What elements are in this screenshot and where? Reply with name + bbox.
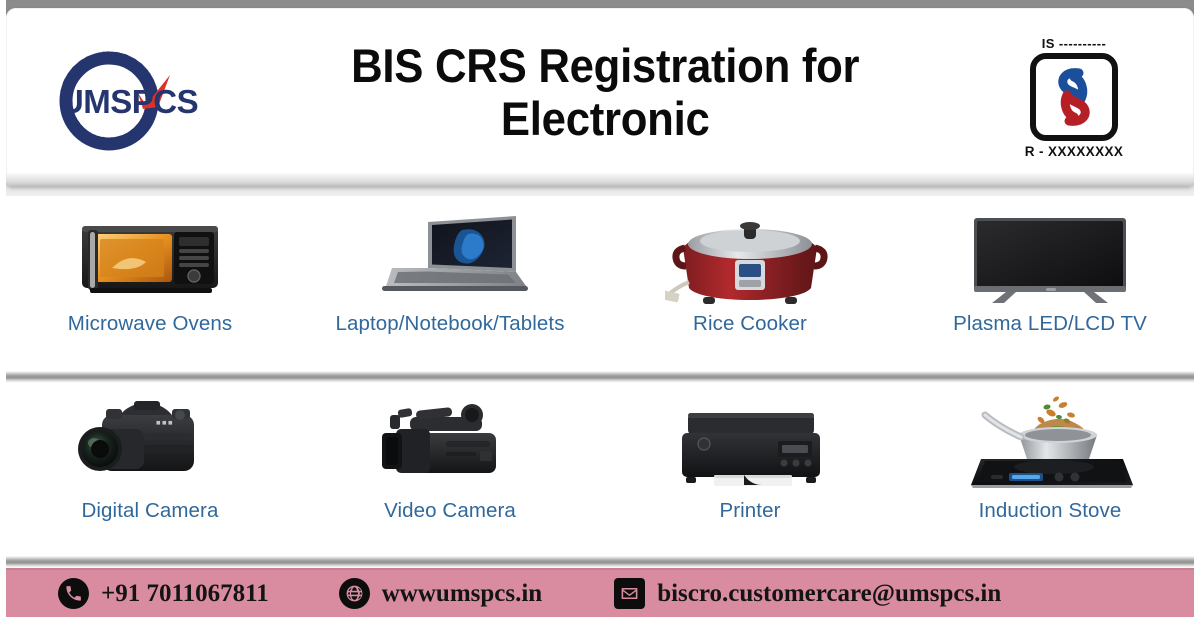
rice-cooker-icon [665, 202, 835, 306]
globe-icon [339, 578, 370, 609]
product-card-induction-stove[interactable]: Induction Stove [900, 383, 1200, 557]
umspcs-logo-mark: LEADER IN PRODUCT COMPLIANCE GLOBALLY UM… [42, 39, 220, 155]
product-card-digital-camera[interactable]: ■■■ Digital Camera [0, 383, 300, 557]
product-label: Rice Cooker [693, 312, 807, 336]
page-title: BIS CRS Registration for Electronic [351, 40, 859, 145]
contact-phone[interactable]: +91 7011067811 [58, 578, 269, 609]
page-title-line1: BIS CRS Registration for [351, 40, 859, 93]
bis-is-number: IS ---------- [1016, 36, 1132, 51]
svg-text:UMSPCS: UMSPCS [60, 83, 198, 120]
product-card-printer[interactable]: Printer [600, 383, 900, 557]
page-edge-right [1194, 0, 1200, 617]
phone-icon [58, 578, 89, 609]
page-edge-left [0, 0, 6, 617]
microwave-oven-icon [60, 202, 240, 306]
contact-website[interactable]: wwwumspcs.in [339, 578, 542, 609]
product-label: Video Camera [384, 499, 516, 523]
bis-registration-number: R - XXXXXXXX [1016, 144, 1132, 159]
phone-number: +91 7011067811 [101, 580, 269, 608]
product-row-1: Microwave Ovens [0, 196, 1200, 372]
title-block: BIS CRS Registration for Electronic [256, 40, 954, 153]
contact-email[interactable]: biscro.customercare@umspcs.in [614, 578, 1001, 609]
product-label: Plasma LED/LCD TV [953, 312, 1147, 336]
induction-stove-icon [955, 389, 1145, 493]
product-card-television[interactable]: Plasma LED/LCD TV [900, 196, 1200, 372]
product-card-rice-cooker[interactable]: Rice Cooker [600, 196, 900, 372]
row-divider-2 [0, 556, 1200, 568]
product-card-video-camera[interactable]: Video Camera [300, 383, 600, 557]
website-url: wwwumspcs.in [382, 580, 542, 608]
row-divider-1 [0, 371, 1200, 383]
product-label: Microwave Ovens [68, 312, 232, 336]
product-card-laptop[interactable]: Laptop/Notebook/Tablets [300, 196, 600, 372]
television-icon [960, 202, 1140, 306]
email-address: biscro.customercare@umspcs.in [657, 580, 1001, 608]
product-label: Printer [719, 499, 780, 523]
header-panel: LEADER IN PRODUCT COMPLIANCE GLOBALLY UM… [6, 8, 1194, 186]
product-label: Digital Camera [82, 499, 219, 523]
product-card-microwave-ovens[interactable]: Microwave Ovens [0, 196, 300, 372]
svg-text:■■■: ■■■ [156, 418, 174, 427]
page-title-line2: Electronic [351, 93, 859, 146]
company-logo: LEADER IN PRODUCT COMPLIANCE GLOBALLY UM… [6, 39, 256, 155]
banner-page: LEADER IN PRODUCT COMPLIANCE GLOBALLY UM… [0, 0, 1200, 617]
envelope-icon [614, 578, 645, 609]
contact-footer: +91 7011067811 wwwumspcs.in biscro.custo… [0, 568, 1200, 617]
bis-standard-mark: IS ---------- R - XXXXXXXX [954, 36, 1194, 159]
product-label: Laptop/Notebook/Tablets [335, 312, 564, 336]
laptop-icon [360, 202, 540, 306]
product-label: Induction Stove [979, 499, 1122, 523]
bis-logo-box [1030, 53, 1118, 141]
dslr-camera-icon: ■■■ [60, 389, 240, 493]
product-row-2: ■■■ Digital Camera [0, 383, 1200, 557]
header-bar: LEADER IN PRODUCT COMPLIANCE GLOBALLY UM… [0, 0, 1200, 196]
camcorder-icon [360, 389, 540, 493]
printer-icon [660, 389, 840, 493]
